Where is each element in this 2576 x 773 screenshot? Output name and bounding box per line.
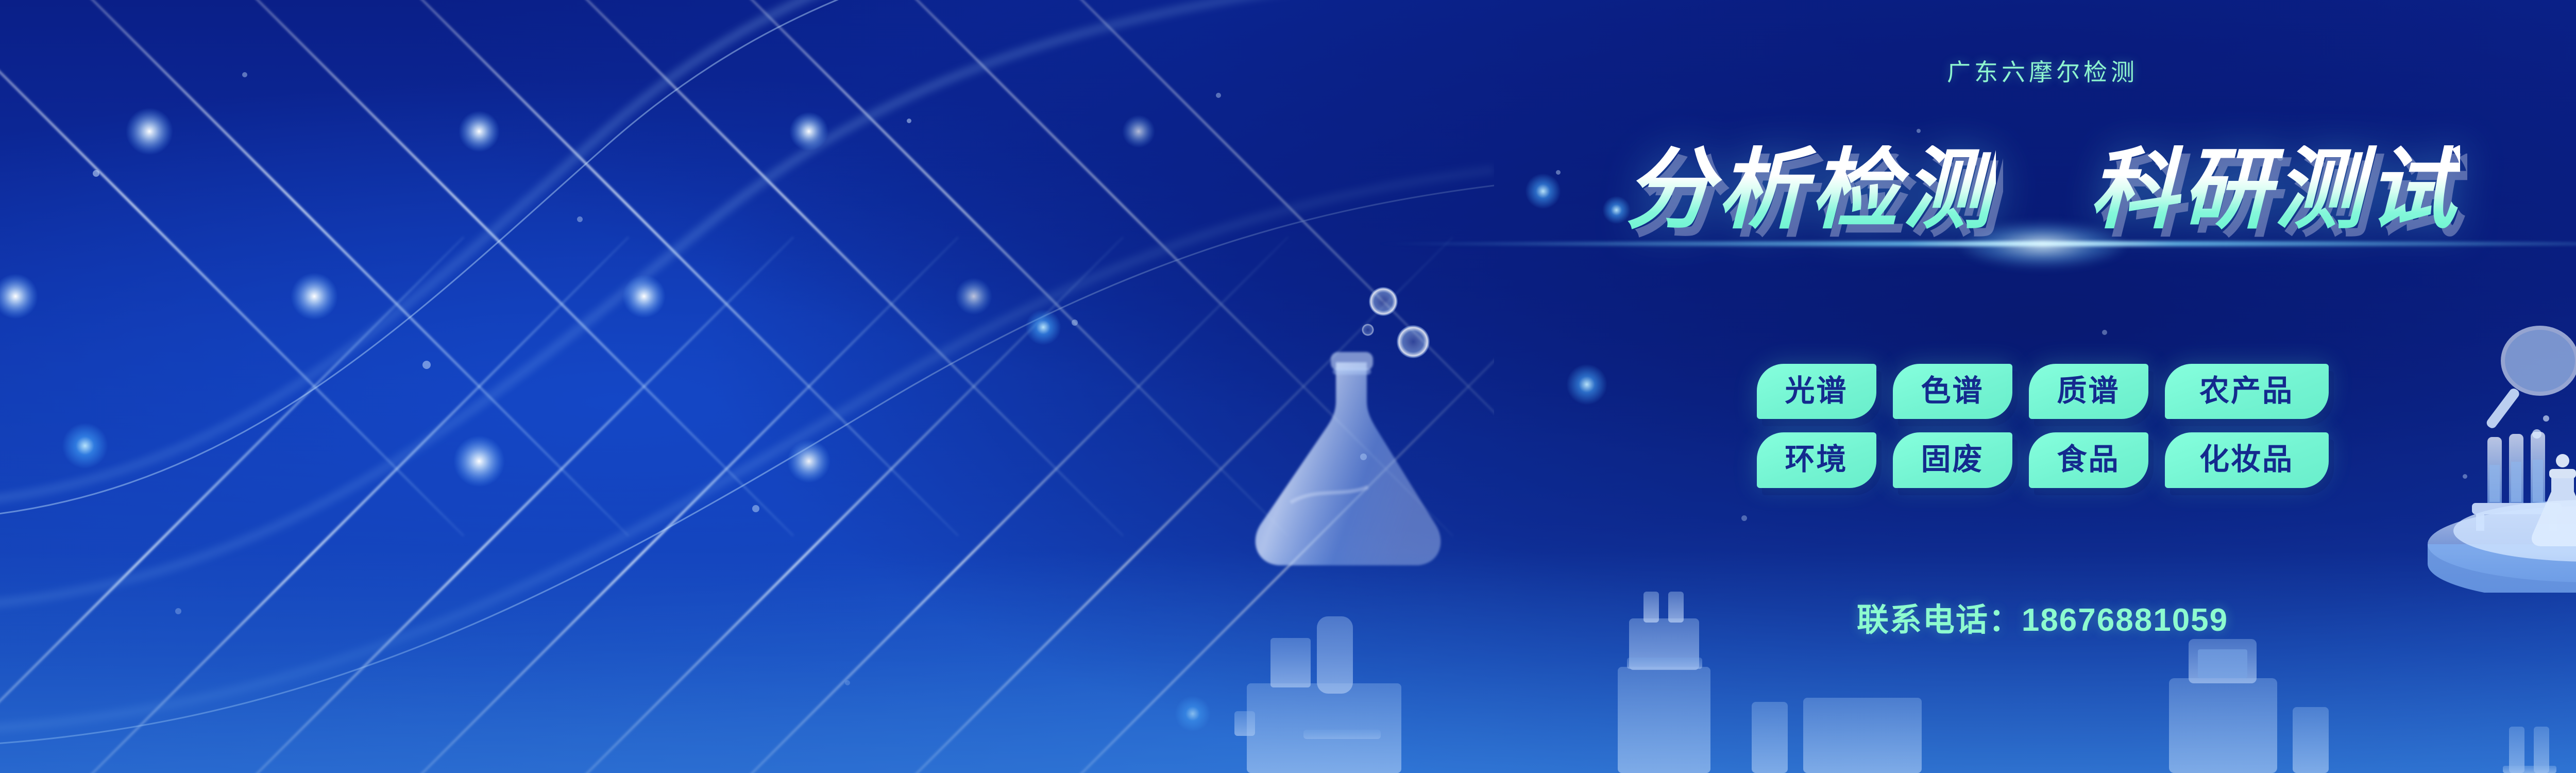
service-tag-mass-spectrometry[interactable]: 质谱 [2029,364,2148,419]
service-tag-food[interactable]: 食品 [2029,432,2148,488]
page-title: 分析检测 科研测试 [0,145,2576,234]
headline-right: 科研测试 [2089,145,2460,234]
service-tag-row-2: 环境 固废 食品 化妆品 [1757,432,2329,488]
headline-left: 分析检测 [1625,145,1996,234]
service-tag-agricultural-products[interactable]: 农产品 [2165,364,2329,419]
service-tag-chromatography[interactable]: 色谱 [1893,364,2012,419]
service-tag-solid-waste[interactable]: 固废 [1893,432,2012,488]
banner-content: 广东六摩尔检测 分析检测 科研测试 光谱 色谱 质谱 农产品 环境 固废 食品 … [0,0,2576,773]
contact-phone[interactable]: 联系电话：18676881059 [0,594,2576,640]
service-tag-environment[interactable]: 环境 [1757,432,1876,488]
service-tag-cosmetics[interactable]: 化妆品 [2165,432,2329,488]
service-tag-row-1: 光谱 色谱 质谱 农产品 [1757,364,2329,419]
service-tag-list: 光谱 色谱 质谱 农产品 环境 固废 食品 化妆品 [0,364,2576,488]
promo-banner: 广东六摩尔检测 分析检测 科研测试 光谱 色谱 质谱 农产品 环境 固废 食品 … [0,0,2576,773]
service-tag-spectroscopy[interactable]: 光谱 [1757,364,1876,419]
company-name: 广东六摩尔检测 [0,54,2576,88]
